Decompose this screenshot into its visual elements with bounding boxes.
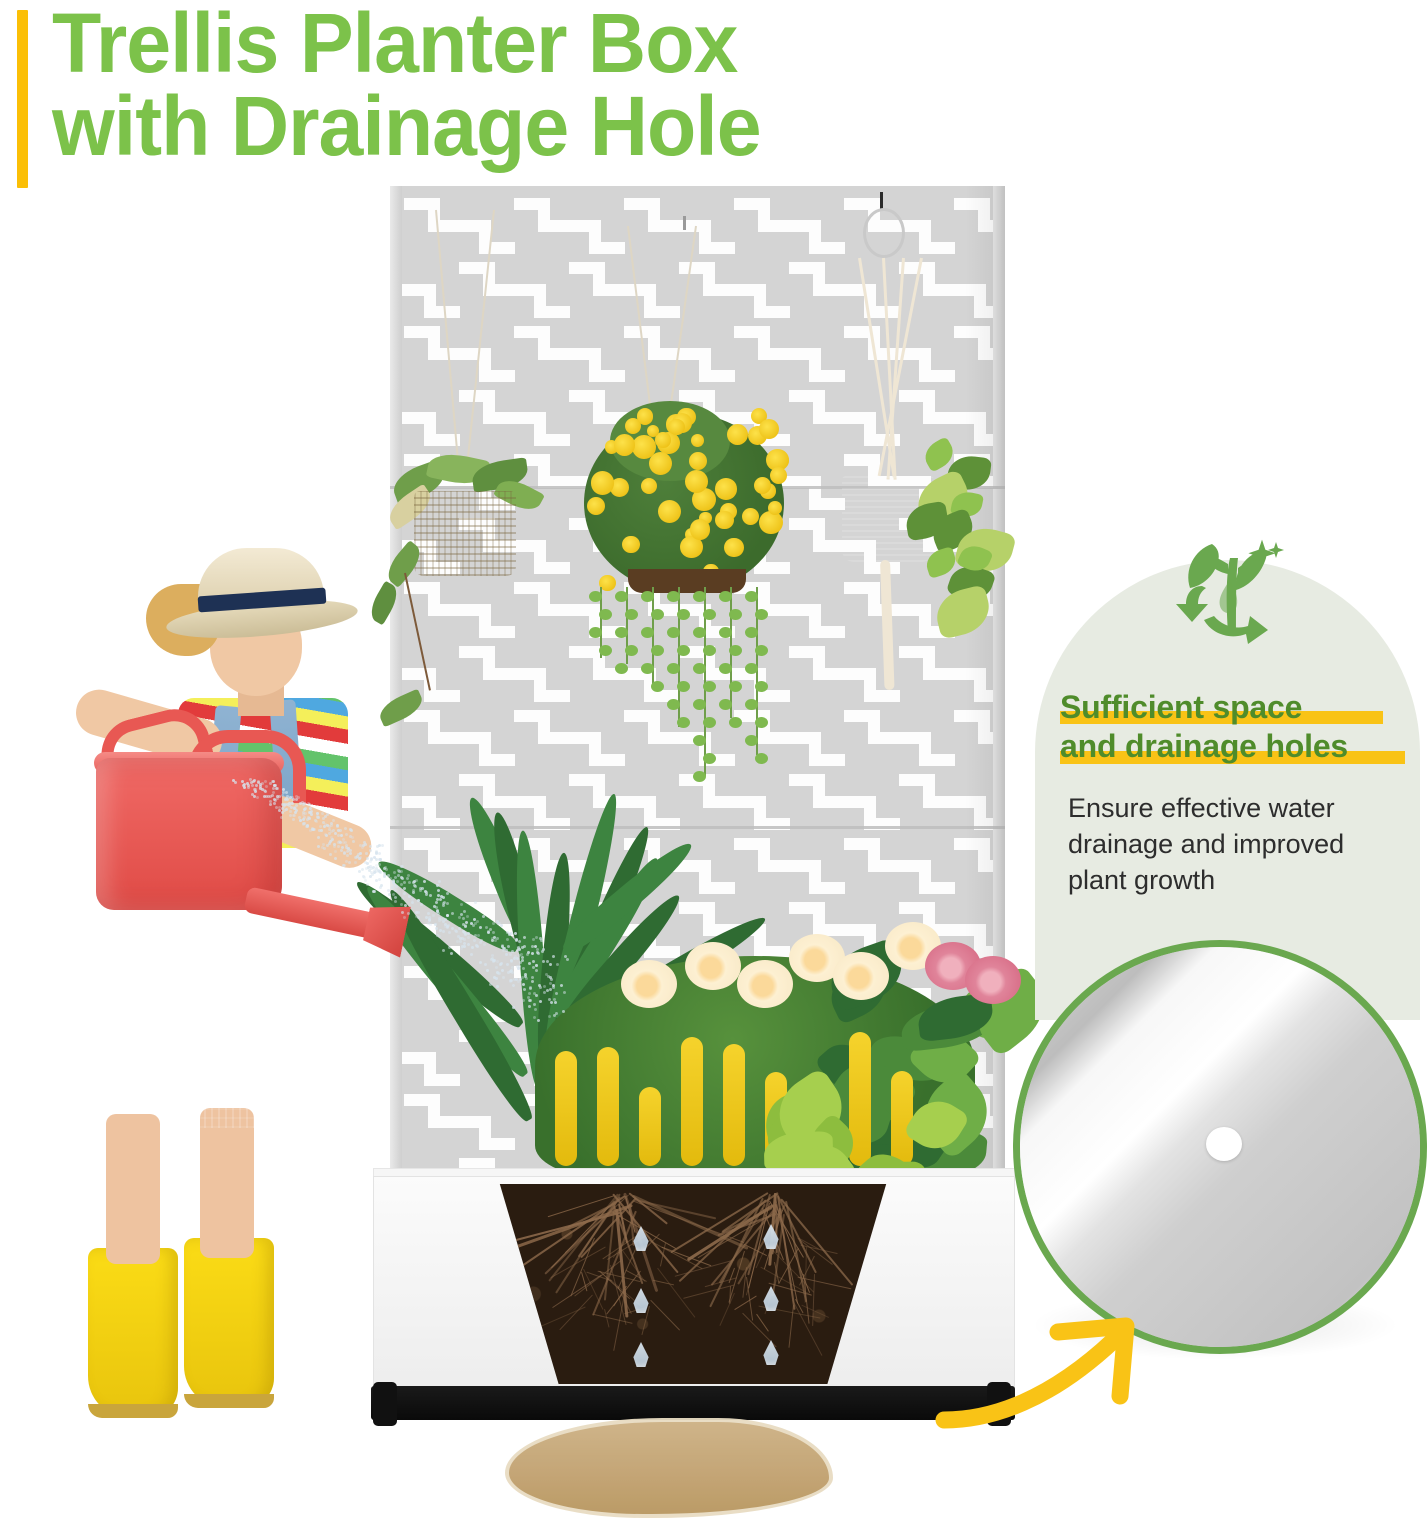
water-particle [523,936,526,939]
water-particle [306,825,309,828]
yellow-spike-flower [723,1044,745,1166]
water-particle [343,864,346,867]
water-particle [292,818,295,821]
water-particle [403,916,406,919]
water-particle [280,816,283,819]
water-particle [474,922,477,925]
water-particle [326,813,329,816]
water-particle [292,814,295,817]
planter-base-rail [371,1386,1015,1420]
water-particle [394,900,397,903]
flower [770,467,788,485]
water-particle [523,988,526,991]
water-particle [290,802,293,805]
water-particle [400,870,403,873]
flower-bloom [621,960,677,1008]
water-particle [429,923,432,926]
flower [614,434,635,455]
water-particle [378,852,381,855]
water-particle [411,901,414,904]
water-particle [337,845,340,848]
water-particle [272,787,275,790]
water-particle [394,896,397,899]
water-particle [417,911,420,914]
headline-line-1: Sufficient space [1060,688,1410,727]
yellow-spike-flower [681,1037,703,1166]
water-particle [487,931,490,934]
water-particle [346,854,349,857]
water-particle [522,967,525,970]
water-particle [408,881,411,884]
vine-leaf [729,609,742,620]
water-particle [534,945,537,948]
flower [622,536,640,554]
water-particle [406,877,409,880]
water-particle [284,798,287,801]
water-particle [310,813,313,816]
water-particle [375,870,378,873]
water-particle [351,836,354,839]
water-particle [375,879,378,882]
vine-leaf [677,717,690,728]
water-particle [507,971,510,974]
flower [668,419,685,436]
lattice-tile [459,326,515,382]
water-particle [317,816,320,819]
water-particle [281,794,284,797]
water-particle [519,961,522,964]
water-particle [283,809,286,812]
water-particle [438,919,441,922]
water-particle [330,824,333,827]
water-particle [533,1016,536,1019]
vine-leaf [745,591,758,602]
water-particle [272,791,275,794]
water-particle [546,960,549,963]
vine-leaf [667,663,680,674]
water-particle [247,786,250,789]
flower [637,408,654,425]
vine-leaf [693,735,706,746]
water-particle [253,779,256,782]
water-particle [534,1008,537,1011]
list-item [570,401,800,691]
water-particle [411,898,414,901]
pothos-leaf [931,584,994,640]
eco-plant-recycle-icon [1168,528,1296,652]
water-particle [378,878,381,881]
yellow-spike-flower [639,1087,661,1166]
yellow-spike-flower [891,1071,913,1166]
vine-leaf [677,645,690,656]
water-particle [370,871,373,874]
water-particle [535,969,538,972]
vine-leaf [651,609,664,620]
flower-bloom [965,956,1021,1004]
water-particle [448,946,451,949]
water-particle [309,829,312,832]
water-particle [317,836,320,839]
vine-leaf [755,717,768,728]
vine-leaf [625,645,638,656]
lattice-tile [679,198,735,254]
water-particle [516,957,519,960]
vine-leaf [667,699,680,710]
water-particle [322,843,325,846]
water-particle [273,802,276,805]
water-particle [522,999,525,1002]
water-particle [467,936,470,939]
water-particle [476,945,479,948]
vine-stem [652,587,654,687]
water-particle [303,808,306,811]
water-particle [541,950,544,953]
water-particle [529,999,532,1002]
water-particle [548,1015,551,1018]
water-particle [523,945,526,948]
vine-leaf [703,681,716,692]
vine-leaf [641,591,654,602]
water-particle [232,779,235,782]
water-particle [400,903,403,906]
water-particle [560,984,563,987]
vine-leaf [651,681,664,692]
water-particle [537,1019,540,1022]
water-particle [447,924,450,927]
water-particle [401,897,404,900]
marketing-image-canvas: Trellis Planter Box with Drainage Hole [0,0,1428,1500]
water-particle [531,952,534,955]
lattice-tile [624,198,680,254]
water-particle [373,890,376,893]
water-particle [366,883,369,886]
pointer-arrow [930,1270,1180,1440]
water-particle [474,901,477,904]
water-particle [511,966,514,969]
water-particle [350,829,353,832]
child-watering-figure [60,548,400,1448]
water-particle [361,846,364,849]
water-droplet [631,1342,651,1368]
water-particle [304,812,307,815]
water-particle [257,781,260,784]
water-particle [403,881,406,884]
water-particle [317,845,320,848]
vine-leaf [615,627,628,638]
water-particle [473,939,476,942]
title-line-1: Trellis Planter Box [52,2,964,85]
water-particle [392,893,395,896]
lattice-tile [569,198,625,254]
lattice-tile [514,390,570,446]
water-particle [483,943,486,946]
root-strand [734,1295,757,1310]
water-particle [255,784,258,787]
vine-leaf [693,663,706,674]
water-particle [555,992,558,995]
water-particle [563,991,566,994]
water-particle [414,885,417,888]
water-particle [491,954,494,957]
vine-leaf [625,609,638,620]
water-particle [442,930,445,933]
water-particle [562,1010,565,1013]
water-particle [403,892,406,895]
water-particle [354,861,357,864]
water-particle [349,849,352,852]
water-particle [289,810,292,813]
water-particle [295,804,298,807]
vine-leaf [719,663,732,674]
trellis-hook-center [683,216,686,230]
vine-leaf [755,609,768,620]
lattice-tile [514,326,570,382]
leg-right [200,1108,254,1258]
headline-line-2: and drainage holes [1060,727,1410,766]
water-particle [535,936,538,939]
water-particle [479,961,482,964]
water-spray [250,748,580,1038]
boot-sole [88,1404,178,1418]
water-particle [533,1003,536,1006]
water-particle [340,834,343,837]
water-particle [535,964,538,967]
water-particle [485,926,488,929]
water-particle [330,830,333,833]
vine-leaf [589,627,602,638]
water-particle [417,916,420,919]
water-particle [479,941,482,944]
water-particle [506,938,509,941]
water-particle [564,955,567,958]
rain-boot-right [184,1238,274,1408]
water-particle [342,841,345,844]
water-particle [550,978,553,981]
water-particle [378,844,381,847]
flower [632,435,656,459]
water-particle [387,889,390,892]
water-particle [442,904,445,907]
lattice-tile [624,326,680,382]
water-particle [467,943,470,946]
flower [742,508,759,525]
lattice-tile [514,582,570,638]
water-particle [518,940,521,943]
body-line-2: drainage and improved [1068,826,1398,862]
vine-leaf [745,735,758,746]
water-particle [532,960,535,963]
water-particle [494,939,497,942]
drainage-hole [1206,1127,1242,1161]
vine-leaf [755,681,768,692]
vine-leaf [667,627,680,638]
water-particle [506,963,509,966]
water-particle [502,976,505,979]
water-particle [318,829,321,832]
vine-leaf [719,699,732,710]
water-particle [470,922,473,925]
water-particle [352,840,355,843]
flower-bloom [833,952,889,1000]
water-particle [539,1000,542,1003]
water-particle [446,914,449,917]
water-particle [393,871,396,874]
water-particle [535,994,538,997]
drained-water-puddle [505,1418,833,1518]
water-particle [436,884,439,887]
yellow-spike-flower [597,1047,619,1166]
water-particle [326,844,329,847]
water-particle [462,917,465,920]
vine-leaf [677,609,690,620]
vine-leaf [729,645,742,656]
water-particle [428,919,431,922]
water-particle [434,923,437,926]
water-particle [308,803,311,806]
water-particle [378,863,381,866]
water-particle [438,880,441,883]
water-particle [454,929,457,932]
water-particle [498,972,501,975]
water-droplet [761,1286,781,1312]
root-strand [812,1274,815,1326]
water-particle [531,980,534,983]
lattice-tile [734,198,790,254]
water-particle [512,1006,515,1009]
water-particle [429,894,432,897]
water-particle [401,911,404,914]
flower [715,478,737,500]
flower [768,501,782,515]
water-particle [323,847,326,850]
water-particle [427,912,430,915]
water-particle [549,963,552,966]
water-particle [332,819,335,822]
water-particle [404,904,407,907]
water-particle [463,938,466,941]
water-particle [495,966,498,969]
vine-leaf [755,645,768,656]
water-particle [458,927,461,930]
water-particle [531,976,534,979]
lattice-tile [514,646,570,702]
flower [685,470,708,493]
macrame-tassel [880,560,895,690]
water-particle [329,853,332,856]
water-particle [458,916,461,919]
lattice-tile [679,326,735,382]
lattice-tile [514,262,570,318]
water-particle [369,849,372,852]
water-particle [484,963,487,966]
water-particle [517,946,520,949]
water-particle [394,889,397,892]
water-particle [389,877,392,880]
boot-sole [184,1394,274,1408]
vine-leaf [693,627,706,638]
water-particle [466,915,469,918]
water-particle [553,1014,556,1017]
vine-leaf [641,627,654,638]
vine-leaf [651,645,664,656]
water-particle [383,875,386,878]
water-particle [505,949,508,952]
water-particle [527,951,530,954]
water-particle [496,985,499,988]
water-particle [325,834,328,837]
water-particle [528,1005,531,1008]
water-particle [319,825,322,828]
water-particle [566,958,569,961]
vine-leaf [641,663,654,674]
water-particle [477,934,480,937]
water-particle [269,803,272,806]
flower [759,419,779,439]
water-particle [348,861,351,864]
basket-pot [628,569,746,593]
water-droplet [761,1340,781,1366]
water-particle [388,893,391,896]
list-item [400,461,530,576]
water-particle [522,983,525,986]
water-particle [329,840,332,843]
water-particle [306,818,309,821]
water-particle [432,914,435,917]
water-particle [513,957,516,960]
lattice-tile [459,390,515,446]
water-particle [437,912,440,915]
water-particle [448,931,451,934]
water-particle [442,896,445,899]
water-particle [446,892,449,895]
flower [689,452,707,470]
body-line-1: Ensure effective water [1068,790,1398,826]
water-particle [396,880,399,883]
water-particle [554,1001,557,1004]
water-particle [549,982,552,985]
vine-leaf [745,627,758,638]
callout-body-text: Ensure effective water drainage and impr… [1068,790,1398,899]
water-particle [375,850,378,853]
lattice-tile [569,262,625,318]
water-particle [336,824,339,827]
water-particle [540,939,543,942]
water-particle [264,780,267,783]
water-particle [529,987,532,990]
water-particle [471,946,474,949]
water-particle [492,922,495,925]
vine-leaf [693,591,706,602]
water-particle [492,931,495,934]
water-particle [507,945,510,948]
vine-leaf [599,645,612,656]
water-particle [486,969,489,972]
water-particle [509,953,512,956]
water-particle [334,850,337,853]
water-particle [265,785,268,788]
page-title: Trellis Planter Box with Drainage Hole [52,2,1002,168]
water-particle [344,827,347,830]
vine-leaf [729,717,742,728]
water-particle [463,942,466,945]
water-particle [446,902,449,905]
water-particle [512,984,515,987]
water-particle [361,868,364,871]
lattice-tile [404,198,460,254]
water-particle [375,864,378,867]
flower [680,536,702,558]
water-particle [489,983,492,986]
